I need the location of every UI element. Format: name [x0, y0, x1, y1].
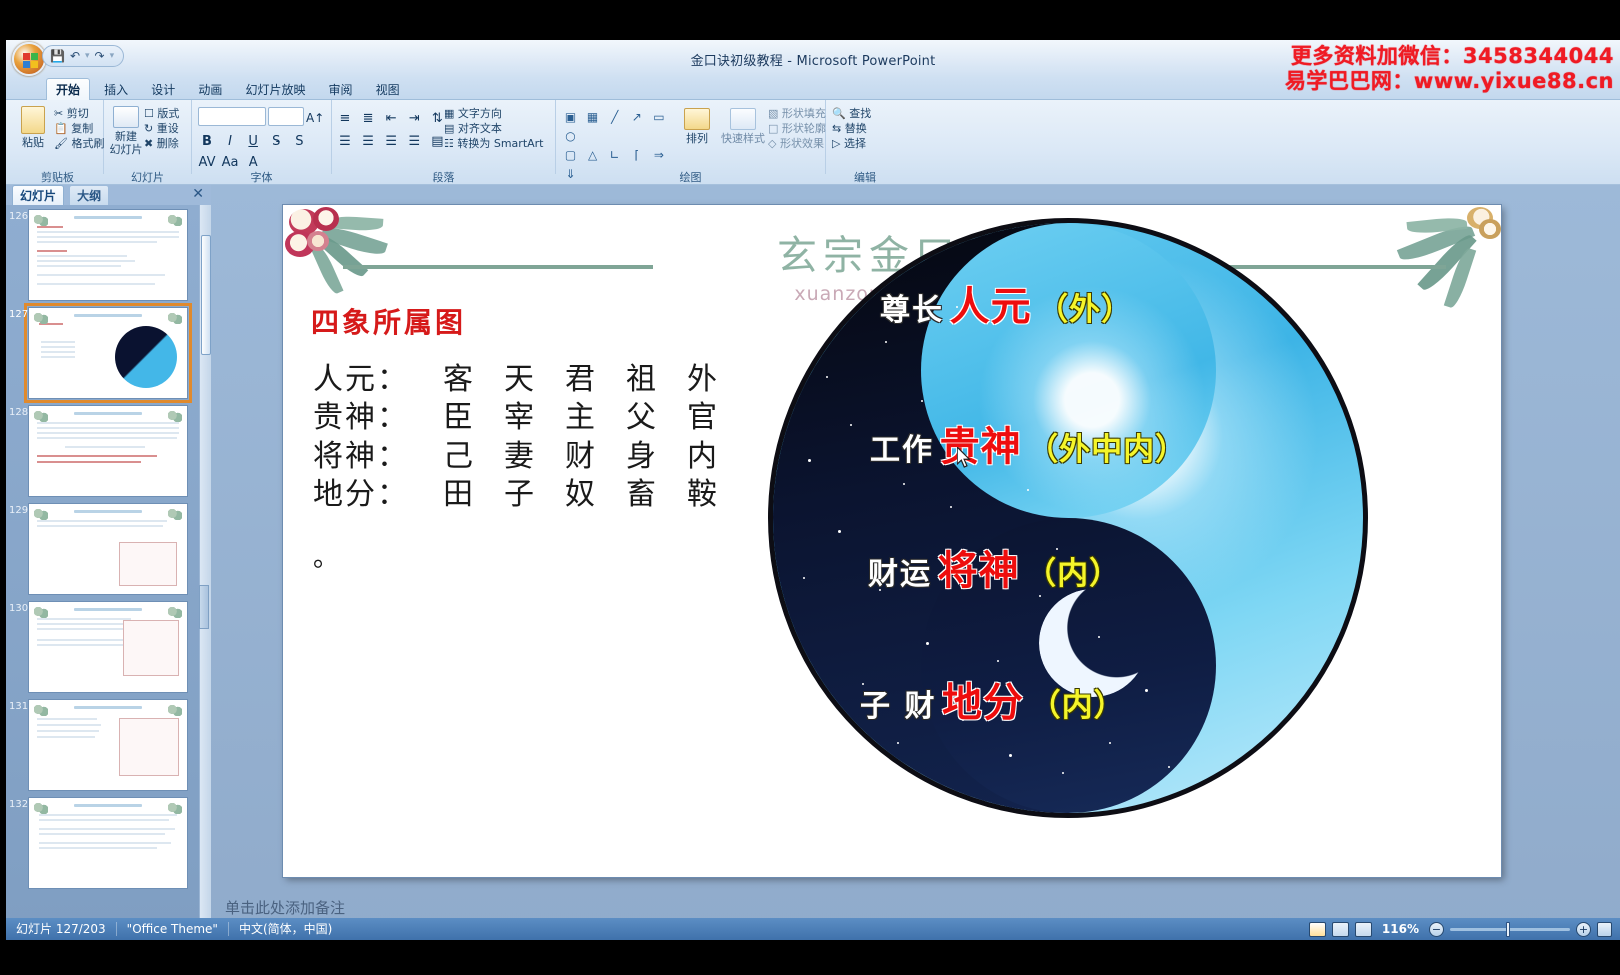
thumbnail-preview [31, 800, 185, 886]
thumbnail-number: 128 [9, 407, 27, 418]
table-cell: 鞍 [687, 476, 748, 514]
screenshot-root: 💾 ↶ ▾ ↷ ▾ 金口诀初级教程 - Microsoft PowerPoint… [0, 0, 1620, 975]
table-trailing-period: 。 [313, 537, 339, 574]
slide-thumbnail-132[interactable]: 132 [28, 797, 188, 889]
ribbon-tab-animation[interactable]: 动画 [189, 79, 231, 101]
table-cell: 天 [504, 361, 565, 399]
thumbnail-preview [31, 702, 185, 788]
thumbnail-number: 129 [9, 505, 27, 516]
watermark: 更多资料加微信：3458344044 易学巴巴网：www.yixue88.cn [1285, 44, 1614, 94]
rounded-rect-shape-icon[interactable]: ▢ [562, 148, 579, 163]
status-bar: 幻灯片 127/203 "Office Theme" 中文(简体，中国) 116… [6, 918, 1620, 940]
table-cell: 田 [443, 476, 504, 514]
select-button[interactable]: ▷ 选择 [832, 136, 871, 151]
ribbon: 粘贴 ✂ 剪切 📋 复制 🖌 格式刷 剪贴板 新建幻灯片 ☐ 版式 ↻ 重设 [6, 100, 1620, 185]
format-painter-button[interactable]: 🖌 格式刷 [54, 136, 104, 151]
thumbnail-preview [31, 212, 185, 298]
letterbox-bottom [0, 940, 1620, 975]
italic-button[interactable]: I [221, 133, 239, 151]
arrow-shape-icon[interactable]: ↗ [628, 110, 645, 125]
replace-button[interactable]: ⇆ 替换 [832, 121, 871, 136]
table-cell: 畜 [626, 476, 687, 514]
table-cell: 奴 [565, 476, 626, 514]
shadow-button[interactable]: S [290, 133, 308, 151]
group-label-clipboard: 剪贴板 [12, 169, 103, 185]
quick-styles-icon [730, 108, 756, 130]
slide-thumbnail-127[interactable]: 127 [28, 307, 188, 399]
status-language[interactable]: 中文(简体，中国) [229, 922, 342, 936]
table-cell: 子 [504, 476, 565, 514]
shape-effects-button[interactable]: ◇ 形状效果 [768, 136, 826, 151]
powerpoint-window: 💾 ↶ ▾ ↷ ▾ 金口诀初级教程 - Microsoft PowerPoint… [6, 40, 1620, 940]
table-row: 人元： 客 天 君 祖 外 [313, 361, 748, 399]
status-right-cluster: 116% − + [1309, 922, 1620, 937]
slide-thumbnail-131[interactable]: 131 [28, 699, 188, 791]
zoom-out-button[interactable]: − [1429, 922, 1444, 937]
elbow-connector-icon[interactable]: ∟ [606, 148, 623, 163]
table-row: 地分： 田 子 奴 畜 鞍 [313, 476, 748, 514]
watermark-line-2: 易学巴巴网：www.yixue88.cn [1285, 69, 1614, 94]
thumbnail-yinyang-icon [115, 326, 177, 388]
fit-slide-to-window-icon[interactable] [1597, 922, 1612, 937]
yin-yang-diagram: 尊长 人元 （外） 工作 贵神 （外中内） 财运 将神 （内） [768, 218, 1368, 818]
slide-thumbnail-list[interactable]: 126 [6, 205, 199, 940]
table-cell: 宰 [504, 399, 565, 437]
table-cell: 己 [443, 438, 504, 476]
close-pane-icon[interactable]: ✕ [192, 186, 204, 202]
picture-shape-icon[interactable]: ▦ [584, 110, 601, 125]
zoom-level[interactable]: 116% [1378, 922, 1423, 936]
increase-indent-button[interactable]: ⇥ [405, 110, 423, 128]
thumbnail-number: 131 [9, 701, 27, 712]
slide-heading: 四象所属图 [311, 301, 466, 341]
ribbon-group-font: A↑ B I U S̵ S AV Aa A 字体 [192, 100, 332, 174]
line-shape-icon[interactable]: ╱ [606, 110, 623, 125]
ribbon-group-drawing: ▣ ▦ ╱ ↗ ▭ ○ ▢ △ ∟ ⌈ ⇒ ⇓ [556, 100, 826, 174]
rectangle-shape-icon[interactable]: ▭ [650, 110, 667, 125]
align-left-button[interactable]: ☰ [336, 133, 354, 151]
numbering-button[interactable]: ≣ [359, 110, 377, 128]
table-cell: 臣 [443, 399, 504, 437]
group-label-font: 字体 [192, 169, 331, 185]
align-center-button[interactable]: ☰ [359, 133, 377, 151]
table-row: 将神： 己 妻 财 身 内 [313, 438, 748, 476]
workspace: 幻灯片 大纲 ✕ 126 [6, 185, 1620, 940]
ribbon-group-editing: 🔍 查找 ⇆ 替换 ▷ 选择 编辑 [826, 100, 904, 174]
thumbnail-number: 132 [9, 799, 27, 810]
slides-pane: 幻灯片 大纲 ✕ 126 [6, 185, 211, 940]
table-cell: 父 [626, 399, 687, 437]
table-cell: 妻 [504, 438, 565, 476]
slide-editing-area: 玄宗金口诀 xuanzongjinkoujue 四象所属图 人元： 客 天 君 … [211, 185, 1620, 940]
group-label-slides: 幻灯片 [104, 169, 191, 185]
ribbon-tab-insert[interactable]: 插入 [95, 79, 137, 101]
table-cell: 外 [687, 361, 748, 399]
text-direction-button[interactable]: ▦ 文字方向 [444, 106, 544, 121]
pane-collapse-handle[interactable] [199, 585, 209, 629]
ribbon-tab-view[interactable]: 视图 [367, 79, 409, 101]
thumbnail-preview [31, 408, 185, 494]
group-label-paragraph: 段落 [332, 169, 555, 185]
tab-slides[interactable]: 幻灯片 [12, 185, 64, 205]
table-cell: 财 [565, 438, 626, 476]
diagram-label-4: 子 财 地分 （内） [860, 670, 1126, 728]
cut-button[interactable]: ✂ 剪切 [54, 106, 104, 121]
slide-thumbnail-128[interactable]: 128 [28, 405, 188, 497]
watermark-line-1: 更多资料加微信：3458344044 [1285, 44, 1614, 69]
step-connector-icon[interactable]: ⌈ [628, 148, 645, 163]
diagram-label-2: 工作 贵神 （外中内） [870, 414, 1187, 472]
shape-fill-button[interactable]: ▧ 形状填充 [768, 106, 826, 121]
shape-outline-button[interactable]: □ 形状轮廓 [768, 121, 826, 136]
triangle-shape-icon[interactable]: △ [584, 148, 601, 163]
new-slide-icon [113, 106, 139, 128]
group-label-editing: 编辑 [826, 169, 904, 185]
table-cell: 主 [565, 399, 626, 437]
slide-sorter-icon[interactable] [1332, 922, 1349, 937]
zoom-slider[interactable] [1450, 928, 1570, 931]
slide-thumbnail-126[interactable]: 126 [28, 209, 188, 301]
strikethrough-button[interactable]: S̵ [267, 133, 285, 151]
slides-pane-scrollbar[interactable] [199, 205, 211, 940]
table-cell: 祖 [626, 361, 687, 399]
grow-font-button[interactable]: A↑ [306, 107, 324, 127]
thumbnail-preview [31, 604, 185, 690]
arrange-icon [684, 108, 710, 130]
diagram-label-3: 财运 将神 （内） [868, 538, 1121, 596]
scrollbar-thumb[interactable] [201, 235, 211, 355]
group-label-drawing: 绘图 [556, 169, 825, 185]
letterbox-left [0, 0, 6, 975]
align-right-button[interactable]: ☰ [382, 133, 400, 151]
slide-thumbnail-130[interactable]: 130 [28, 601, 188, 693]
slideshow-icon[interactable] [1355, 922, 1372, 937]
normal-view-icon[interactable] [1309, 922, 1326, 937]
current-slide[interactable]: 玄宗金口诀 xuanzongjinkoujue 四象所属图 人元： 客 天 君 … [283, 205, 1501, 877]
status-slide-counter: 幻灯片 127/203 [6, 922, 117, 936]
slide-thumbnail-129[interactable]: 129 [28, 503, 188, 595]
tab-outline[interactable]: 大纲 [69, 185, 109, 205]
mouse-cursor-icon [957, 447, 972, 469]
ribbon-group-clipboard: 粘贴 ✂ 剪切 📋 复制 🖌 格式刷 剪贴板 [12, 100, 104, 174]
table-cell: 官 [687, 399, 748, 437]
reset-button[interactable]: ↻ 重设 [144, 121, 179, 136]
slides-pane-tabs: 幻灯片 大纲 ✕ [6, 185, 211, 205]
table-cell: 客 [443, 361, 504, 399]
ribbon-tab-home[interactable]: 开始 [46, 78, 90, 101]
bullets-button[interactable]: ≡ [336, 110, 354, 128]
textbox-shape-icon[interactable]: ▣ [562, 110, 579, 125]
oval-shape-icon[interactable]: ○ [562, 129, 579, 144]
right-arrow-block-icon[interactable]: ⇒ [650, 148, 667, 163]
font-name-input[interactable] [198, 107, 266, 126]
table-row: 贵神： 臣 宰 主 父 官 [313, 399, 748, 437]
delete-slide-button[interactable]: ✖ 删除 [144, 136, 179, 151]
ribbon-tab-review[interactable]: 审阅 [320, 79, 362, 101]
arrange-button[interactable]: 排列 [678, 108, 716, 145]
zoom-in-button[interactable]: + [1576, 922, 1591, 937]
new-slide-button[interactable]: 新建幻灯片 [108, 106, 144, 156]
paste-button[interactable]: 粘贴 [16, 106, 50, 149]
table-cell: 身 [626, 438, 687, 476]
thumbnail-number: 127 [9, 309, 27, 320]
thumbnail-number: 126 [9, 211, 27, 222]
status-theme[interactable]: "Office Theme" [117, 922, 229, 936]
decrease-indent-button[interactable]: ⇤ [382, 110, 400, 128]
ribbon-tab-slideshow[interactable]: 幻灯片放映 [236, 79, 314, 101]
four-symbols-table: 人元： 客 天 君 祖 外 贵神： 臣 宰 主 父 [313, 361, 748, 515]
table-cell: 内 [687, 438, 748, 476]
thumbnail-preview [31, 506, 185, 592]
zoom-slider-knob[interactable] [1506, 922, 1510, 937]
ribbon-group-slides: 新建幻灯片 ☐ 版式 ↻ 重设 ✖ 删除 幻灯片 [104, 100, 192, 174]
align-text-button[interactable]: ▤ 对齐文本 [444, 121, 544, 136]
row-label: 贵神： [313, 399, 443, 437]
quick-styles-button[interactable]: 快速样式 [720, 108, 766, 145]
ribbon-tab-design[interactable]: 设计 [142, 79, 184, 101]
bold-button[interactable]: B [198, 133, 216, 151]
convert-to-smartart-button[interactable]: ☷ 转换为 SmartArt [444, 136, 544, 151]
letterbox-top [0, 0, 1620, 40]
row-label: 将神： [313, 438, 443, 476]
thumbnail-number: 130 [9, 603, 27, 614]
find-button[interactable]: 🔍 查找 [832, 106, 871, 121]
underline-button[interactable]: U [244, 133, 262, 151]
row-label: 地分： [313, 476, 443, 514]
ribbon-group-paragraph: ≡ ≣ ⇤ ⇥ ⇅ ☰ ☰ ☰ ☰ ▤ ▦ 文字方向 ▤ 对齐文本 ☷ 转换为 … [332, 100, 556, 174]
table-cell: 君 [565, 361, 626, 399]
justify-button[interactable]: ☰ [405, 133, 423, 151]
diagram-label-1: 尊长 人元 （外） [880, 274, 1133, 332]
copy-button[interactable]: 📋 复制 [54, 121, 104, 136]
row-label: 人元： [313, 361, 443, 399]
font-size-input[interactable] [268, 107, 304, 126]
thumbnail-preview [31, 310, 185, 396]
paste-icon [21, 106, 45, 134]
layout-button[interactable]: ☐ 版式 [144, 106, 179, 121]
